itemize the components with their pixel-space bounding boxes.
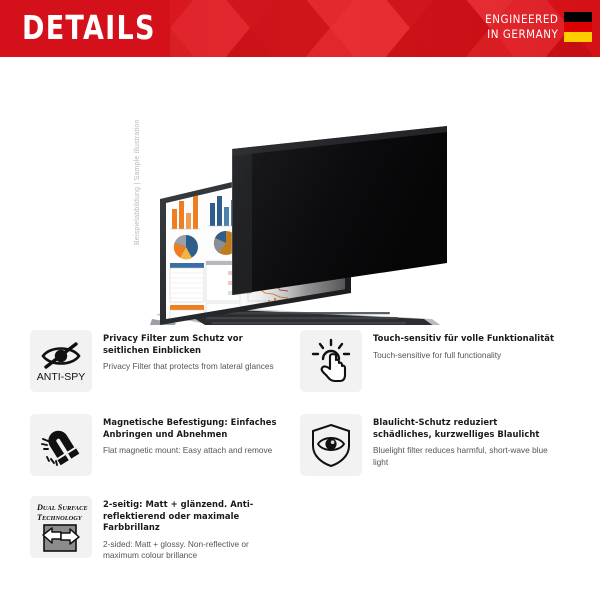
feature-privacy-filter: ANTI-SPY Privacy Filter zum Schutz vor s… [30,330,300,392]
feature-text-block: 2-seitig: Matt + glänzend. Anti-reflekti… [103,496,286,562]
feature-row: ANTI-SPY Privacy Filter zum Schutz vor s… [30,330,570,392]
touch-hand-icon [309,338,353,384]
flag-stripe-black [564,12,592,22]
feature-text-block: Magnetische Befestigung: Einfaches Anbri… [103,414,286,457]
engineered-line-1: ENGINEERED [485,12,558,27]
feature-title-en: Privacy Filter that protects from latera… [103,361,286,373]
magnet-icon-box [30,414,92,476]
flag-stripe-gold [564,32,592,42]
feature-title-en: Touch-sensitive for full functionality [373,350,554,362]
shield-icon-box [300,414,362,476]
feature-text-block: Blaulicht-Schutz reduziert schädliches, … [373,414,556,468]
feature-text-block: Privacy Filter zum Schutz vor seitlichen… [103,330,286,373]
engineered-line-2: IN GERMANY [485,27,558,42]
laptop-privacy-filter-illustration [0,57,600,325]
feature-dual-surface: DUAL SURFACE TECHNOLOGY 2-seitig: Matt +… [30,496,300,562]
feature-text-block: Touch-sensitiv für volle Funktionalität … [373,330,554,361]
feature-title-de: 2-seitig: Matt + glänzend. Anti-reflekti… [103,499,286,534]
anti-spy-icon-box: ANTI-SPY [30,330,92,392]
feature-title-de: Privacy Filter zum Schutz vor seitlichen… [103,333,286,356]
page-header-banner: DETAILS ENGINEERED IN GERMANY [0,0,600,57]
engineered-in-germany-badge: ENGINEERED IN GERMANY [477,12,592,42]
feature-title-en: 2-sided: Matt + glossy. Non-reflective o… [103,539,286,562]
anti-spy-label: ANTI-SPY [37,371,85,383]
anti-spy-eye-icon: ANTI-SPY [36,337,86,385]
sample-illustration-caption: Beispielabbildung | Sample illustration [134,137,141,245]
feature-row: DUAL SURFACE TECHNOLOGY 2-seitig: Matt +… [30,496,570,562]
dual-surface-label-line1: DUAL SURFACE [36,503,88,512]
feature-row: Magnetische Befestigung: Einfaches Anbri… [30,414,570,476]
dual-surface-icon: DUAL SURFACE TECHNOLOGY [33,499,89,555]
feature-title-de: Blaulicht-Schutz reduziert schädliches, … [373,417,556,440]
flag-stripe-red [564,22,592,32]
dual-surface-icon-box: DUAL SURFACE TECHNOLOGY [30,496,92,558]
feature-title-de: Magnetische Befestigung: Einfaches Anbri… [103,417,286,440]
feature-bluelight-filter: Blaulicht-Schutz reduziert schädliches, … [300,414,570,476]
feature-touch-sensitive: Touch-sensitiv für volle Funktionalität … [300,330,570,392]
features-section: ANTI-SPY Privacy Filter zum Schutz vor s… [0,330,600,562]
german-flag-icon [564,12,592,42]
dual-surface-label-line2: TECHNOLOGY [37,513,83,522]
touch-icon-box [300,330,362,392]
feature-empty-slot [300,496,570,562]
magnet-icon [38,422,84,468]
feature-title-en: Flat magnetic mount: Easy attach and rem… [103,445,286,457]
feature-magnetic-mount: Magnetische Befestigung: Einfaches Anbri… [30,414,300,476]
feature-title-en: Bluelight filter reduces harmful, short-… [373,445,556,468]
feature-title-de: Touch-sensitiv für volle Funktionalität [373,333,554,345]
engineered-label: ENGINEERED IN GERMANY [485,12,558,42]
shield-eye-icon [309,422,353,468]
product-hero-image: Beispielabbildung | Sample illustration [0,57,600,325]
page-title: DETAILS [22,9,156,47]
